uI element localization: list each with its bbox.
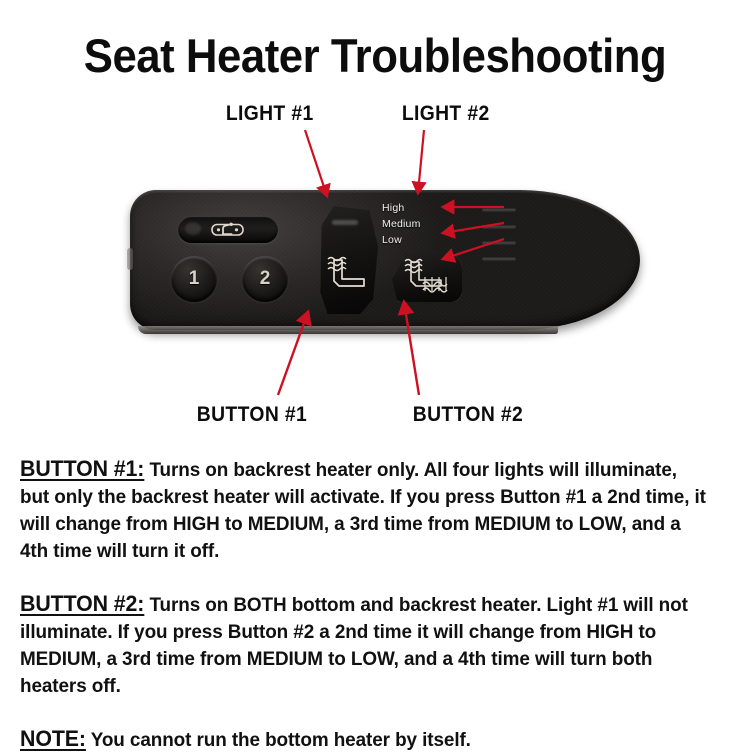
- instructions-body: BUTTON #1: Turns on backrest heater only…: [20, 455, 732, 754]
- indicator-light-3: [482, 241, 516, 245]
- page-title: Seat Heater Troubleshooting: [26, 28, 724, 83]
- indicator-light-4: [482, 257, 516, 261]
- callout-label-button-1: BUTTON #1: [197, 403, 307, 427]
- seat-and-backrest-heater-icon: [401, 257, 457, 297]
- preset-button-1-label: 1: [189, 268, 200, 290]
- preset-button-2-label: 2: [260, 268, 271, 290]
- panel-bottom-edge: [138, 326, 558, 334]
- preset-button-1[interactable]: 1: [171, 256, 217, 302]
- indicator-light-1: [482, 208, 516, 212]
- backrest-heater-icon: [324, 254, 370, 298]
- indicator-light-2: [482, 225, 516, 229]
- panel-side-notch: [127, 248, 133, 270]
- callout-label-light-2: LIGHT #2: [402, 102, 490, 126]
- paragraph-button-1-lead: BUTTON #1:: [20, 456, 144, 481]
- callout-label-button-2: BUTTON #2: [413, 403, 523, 427]
- arrow-light-2: [418, 130, 424, 193]
- paragraph-button-2: BUTTON #2: Turns on BOTH bottom and back…: [20, 590, 711, 700]
- backrest-heater-button[interactable]: [318, 206, 378, 314]
- callout-label-light-1: LIGHT #1: [226, 102, 314, 126]
- indicator-label-low: Low: [382, 234, 402, 246]
- memory-set-button[interactable]: [178, 216, 278, 243]
- seat-memory-icon: [211, 221, 245, 238]
- paragraph-button-2-lead: BUTTON #2:: [20, 591, 144, 616]
- paragraph-note-text: You cannot run the bottom heater by itse…: [86, 729, 471, 751]
- seat-heater-diagram: LIGHT #1 LIGHT #2 BUTTON #1 BUTTON #2 1: [0, 90, 750, 440]
- arrow-light-1: [305, 130, 327, 196]
- button-gloss: [332, 220, 358, 225]
- indicator-label-medium: Medium: [382, 218, 421, 230]
- paragraph-button-1: BUTTON #1: Turns on backrest heater only…: [20, 455, 711, 565]
- indicator-label-high: High: [382, 202, 404, 214]
- paragraph-note-lead: NOTE:: [20, 726, 86, 751]
- preset-button-2[interactable]: 2: [242, 256, 288, 302]
